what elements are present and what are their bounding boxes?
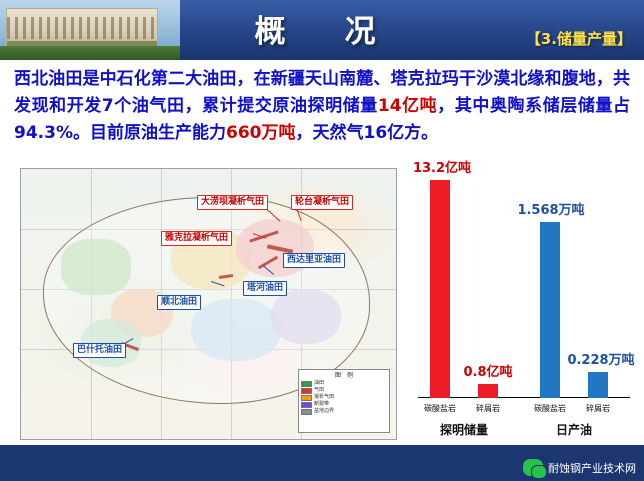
legend-item: 油田 <box>301 380 387 387</box>
legend-item: 盆地边界 <box>301 408 387 415</box>
tick-label-reserve-clastic: 碎屑岩 <box>466 403 510 414</box>
reserves-production-bar-chart: 13.2亿吨 0.8亿吨 碳酸盐岩 碎屑岩 探明储量 1.568万吨 0.228… <box>404 162 634 454</box>
bar-reserve-carbonate <box>430 180 450 398</box>
map-label-yakela[interactable]: 雅克拉凝析气田 <box>161 231 232 246</box>
legend-swatch-fault <box>301 402 312 408</box>
legend-swatch-oilfield <box>301 381 312 387</box>
tick-label-reserve-carbonate: 碳酸盐岩 <box>418 403 462 414</box>
bar-value-production-clastic: 0.228万吨 <box>554 349 644 368</box>
legend-item: 断裂带 <box>301 401 387 408</box>
map-legend-title: 图 例 <box>301 372 387 379</box>
legend-label-oilfield: 油田 <box>314 380 324 387</box>
legend-label-fault: 断裂带 <box>314 401 329 408</box>
group-label-proved-reserves: 探明储量 <box>416 421 512 438</box>
map-label-shunbei[interactable]: 顺北油田 <box>157 295 201 310</box>
map-block-east <box>271 289 341 344</box>
slide-footer: 耐蚀钢产业技术网 <box>0 445 644 481</box>
legend-swatch-gasfield <box>301 388 312 394</box>
bar-production-clastic <box>588 372 608 398</box>
bar-production-carbonate <box>540 222 560 398</box>
legend-swatch-boundary <box>301 409 312 415</box>
map-label-tahe[interactable]: 塔河油田 <box>243 281 287 296</box>
paragraph-highlight-reserve: 14亿吨 <box>378 96 437 116</box>
bar-value-reserve-clastic: 0.8亿吨 <box>450 361 526 380</box>
watermark: 耐蚀钢产业技术网 <box>523 459 636 476</box>
legend-label-gasfield: 气田 <box>314 387 324 394</box>
bar-value-reserve-carbonate: 13.2亿吨 <box>402 157 482 176</box>
map-block-central <box>191 299 281 361</box>
tick-label-production-clastic: 碎屑岩 <box>576 403 620 414</box>
group-label-daily-production: 日产油 <box>526 421 622 438</box>
bar-value-production-carbonate: 1.568万吨 <box>508 199 594 218</box>
map-block-west <box>61 239 131 295</box>
section-tag: 【3.储量产量】 <box>526 28 632 49</box>
paragraph-part-3: ，天然气16亿方。 <box>295 123 438 143</box>
map-label-xidaliya[interactable]: 西达里亚油田 <box>283 253 345 268</box>
wechat-icon <box>523 459 543 476</box>
tick-label-production-carbonate: 碳酸盐岩 <box>528 403 572 414</box>
legend-label-condensate: 凝析气田 <box>314 394 334 401</box>
watermark-text: 耐蚀钢产业技术网 <box>548 460 636 476</box>
paragraph-highlight-capacity: 660万吨 <box>226 123 296 143</box>
map-label-daluoba[interactable]: 大涝坝凝析气田 <box>197 195 268 210</box>
legend-swatch-condensate <box>301 395 312 401</box>
map-label-luntai[interactable]: 轮台凝析气田 <box>291 195 353 210</box>
legend-label-boundary: 盆地边界 <box>314 408 334 415</box>
oilfield-distribution-map[interactable]: 大涝坝凝析气田 轮台凝析气田 雅克拉凝析气田 西达里亚油田 塔河油田 顺北油田 … <box>20 168 397 440</box>
legend-item: 凝析气田 <box>301 394 387 401</box>
slide-header: 概 况 【3.储量产量】 <box>0 0 644 60</box>
summary-paragraph: 西北油田是中石化第二大油田，在新疆天山南麓、塔克拉玛干沙漠北缘和腹地，共发现和开… <box>14 66 630 147</box>
map-label-bashituo[interactable]: 巴什托油田 <box>73 343 126 358</box>
map-legend: 图 例 油田 气田 凝析气田 断裂带 盆地边界 <box>298 369 390 433</box>
legend-item: 气田 <box>301 387 387 394</box>
bar-reserve-clastic <box>478 384 498 398</box>
